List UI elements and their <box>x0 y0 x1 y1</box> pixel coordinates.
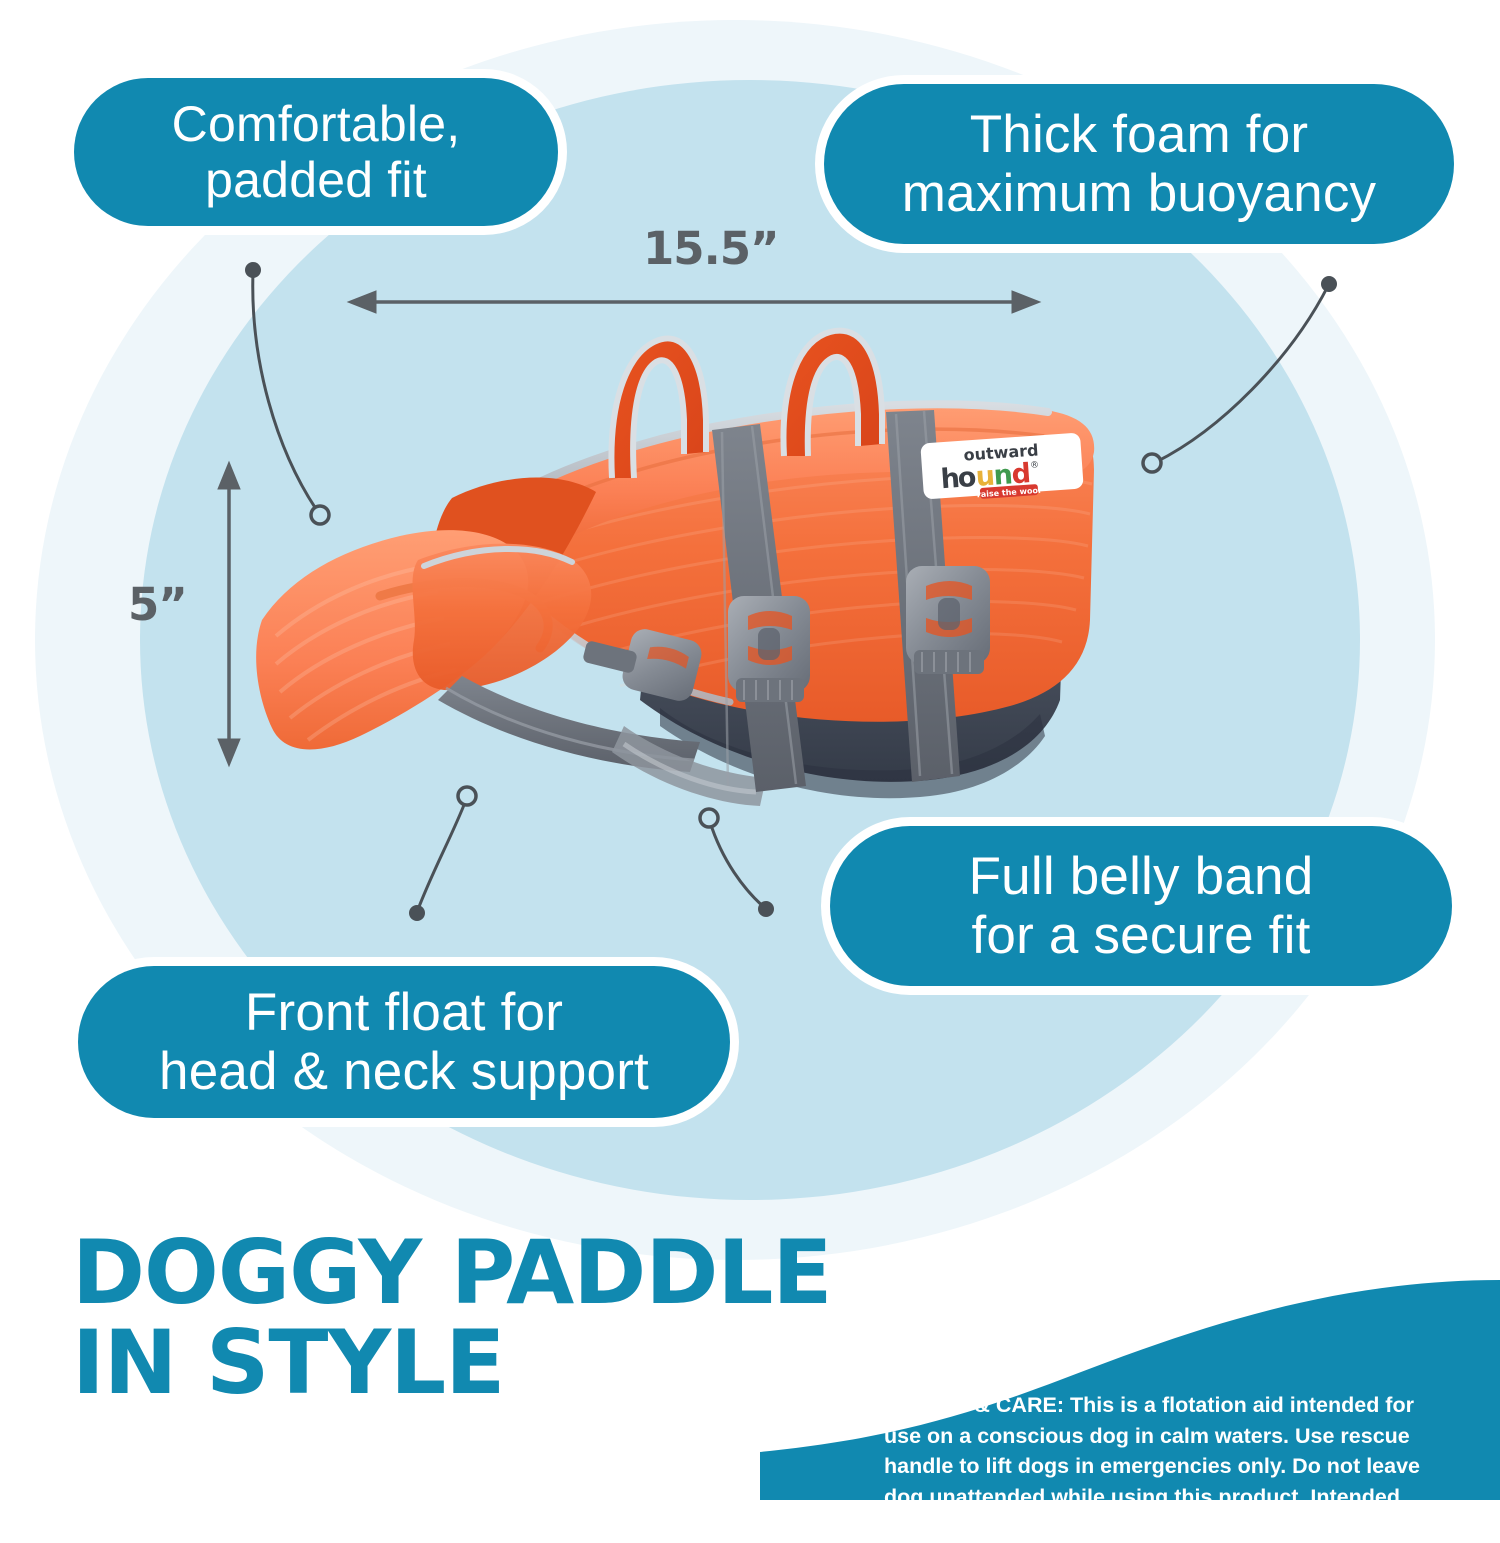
callout-label-belly: Full belly band for a secure fit <box>969 847 1314 966</box>
leader-dot-front-float <box>409 905 425 921</box>
leader-dot-belly <box>758 901 774 917</box>
infographic-canvas: outward h o u n d ® raise the woof <box>0 0 1500 1500</box>
dimension-height-label: 5” <box>128 578 187 631</box>
leader-ring-front-float <box>458 787 476 805</box>
callout-pill-front-float[interactable]: Front float for head & neck support <box>78 966 730 1118</box>
leader-ring-comfort <box>311 506 329 524</box>
dimension-line-height <box>218 462 240 766</box>
callout-label-comfort: Comfortable, padded fit <box>172 96 461 208</box>
leader-line-foam <box>1156 286 1328 462</box>
dimension-line-width <box>348 291 1040 313</box>
leader-ring-belly <box>700 809 718 827</box>
leader-ring-foam <box>1143 454 1161 472</box>
callout-pill-comfortable-padded-fit[interactable]: Comfortable, padded fit <box>74 78 558 226</box>
leader-line-belly <box>710 822 765 908</box>
safety-and-care-text: SAFETY & CARE: This is a flotation aid i… <box>884 1390 1429 1543</box>
leader-dot-foam <box>1321 276 1337 292</box>
page-headline: Doggy Paddle In Style <box>72 1228 972 1408</box>
callout-pill-full-belly-band[interactable]: Full belly band for a secure fit <box>830 826 1452 986</box>
callout-label-front: Front float for head & neck support <box>159 983 649 1102</box>
leader-line-front-float <box>417 800 466 912</box>
callout-label-foam: Thick foam for maximum buoyancy <box>902 105 1376 224</box>
leader-line-comfort <box>253 272 318 512</box>
leader-dot-comfort <box>245 262 261 278</box>
dimension-width-label: 15.5” <box>643 222 779 275</box>
callout-pill-thick-foam[interactable]: Thick foam for maximum buoyancy <box>824 84 1454 244</box>
